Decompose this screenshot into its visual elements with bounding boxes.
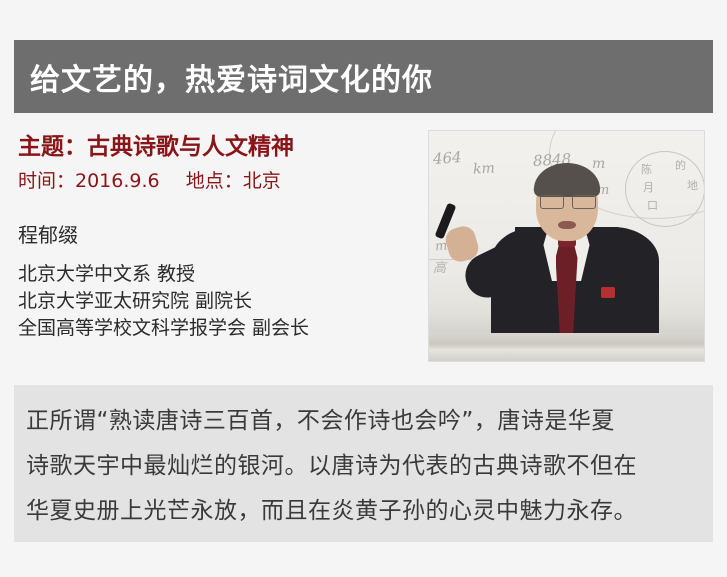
affiliation-line: 全国高等学校文科学报学会 副会长 bbox=[18, 315, 418, 342]
person-figure bbox=[429, 131, 704, 361]
lecture-info: 主题：古典诗歌与人文精神 时间：2016.9.6 地点：北京 程郁缀 北京大学中… bbox=[18, 133, 418, 342]
quote-line: 正所谓“熟读唐诗三百首，不会作诗也会吟”，唐诗是华夏 bbox=[26, 399, 701, 444]
glasses-right-lens bbox=[572, 195, 596, 209]
speaker-affiliations: 北京大学中文系 教授 北京大学亚太研究院 副院长 全国高等学校文科学报学会 副会… bbox=[18, 261, 418, 342]
hair bbox=[534, 163, 600, 197]
speaker-photo: 464 km 8848 m 8848 m m 高 陈 月 口 的 地 bbox=[428, 130, 705, 362]
lectern-desk bbox=[429, 333, 704, 361]
affiliation-line: 北京大学亚太研究院 副院长 bbox=[18, 288, 418, 315]
time-label: 时间：2016.9.6 bbox=[18, 170, 160, 192]
place-label: 地点：北京 bbox=[186, 170, 281, 192]
speaker-name: 程郁缀 bbox=[18, 222, 418, 248]
quote-line: 诗歌天宇中最灿烂的银河。以唐诗为代表的古典诗歌不但在 bbox=[26, 444, 701, 489]
mouth bbox=[558, 221, 576, 229]
quote-panel: 正所谓“熟读唐诗三百首，不会作诗也会吟”，唐诗是华夏 诗歌天宇中最灿烂的银河。以… bbox=[14, 385, 713, 542]
poster-page: 给文艺的，热爱诗词文化的你 主题：古典诗歌与人文精神 时间：2016.9.6 地… bbox=[0, 0, 727, 577]
header-banner: 给文艺的，热爱诗词文化的你 bbox=[14, 40, 713, 113]
photo-content: 464 km 8848 m 8848 m m 高 陈 月 口 的 地 bbox=[429, 131, 704, 361]
glasses-left-lens bbox=[540, 195, 564, 209]
page-title: 给文艺的，热爱诗词文化的你 bbox=[30, 55, 433, 99]
quote-line: 华夏史册上光芒永放，而且在炎黄子孙的心灵中魅力永存。 bbox=[26, 489, 701, 534]
subject-line: 主题：古典诗歌与人文精神 bbox=[18, 133, 418, 162]
lapel-badge bbox=[601, 287, 615, 298]
affiliation-line: 北京大学中文系 教授 bbox=[18, 261, 418, 288]
time-place-line: 时间：2016.9.6 地点：北京 bbox=[18, 169, 418, 194]
